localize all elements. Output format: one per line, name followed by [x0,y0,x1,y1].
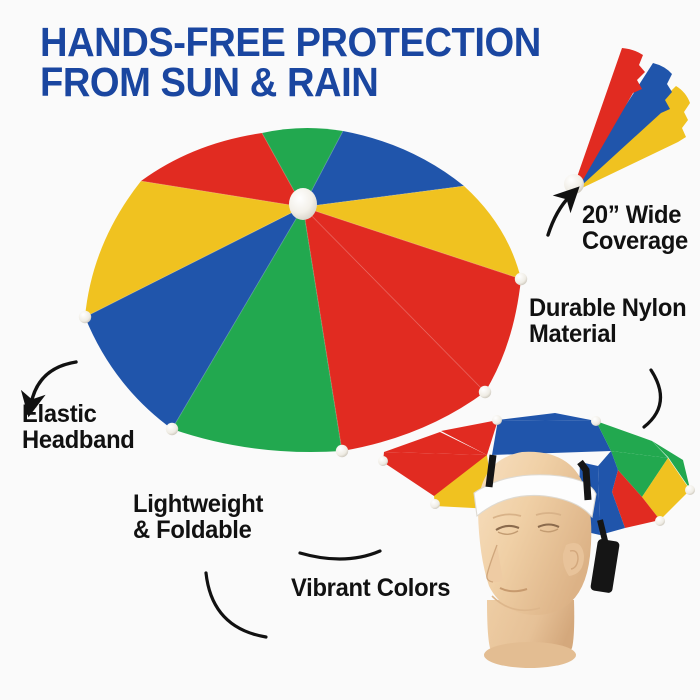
line-vibrant-colors [206,573,266,637]
umbrella-apex-knob [289,188,317,220]
callout-coverage: 20” Wide Coverage [582,202,688,255]
arrow-to-folded-umbrella [548,196,570,235]
callout-headband: Elastic Headband [22,401,135,454]
callout-material: Durable Nylon Material [529,295,686,348]
arrow-to-elastic-headband [31,362,76,404]
umbrella-rib-tips [79,273,527,457]
page-title: HANDS-FREE PROTECTION FROM SUN & RAIN [40,22,617,102]
line-durable-nylon [644,370,660,427]
worn-umbrella-hat-graphic [378,413,695,668]
velcro-tab-graphic [590,539,620,594]
main-umbrella-graphic [79,128,527,457]
callout-lightweight: Lightweight & Foldable [133,491,263,544]
line-lightweight-foldable [300,551,380,559]
callout-colors: Vibrant Colors [291,575,450,601]
worn-hat-rib-tips [378,415,695,526]
elastic-headband-graphic [474,475,596,517]
folded-umbrella-ball-tip [564,174,584,194]
infographic-canvas: HANDS-FREE PROTECTION FROM SUN & RAIN [0,0,700,700]
